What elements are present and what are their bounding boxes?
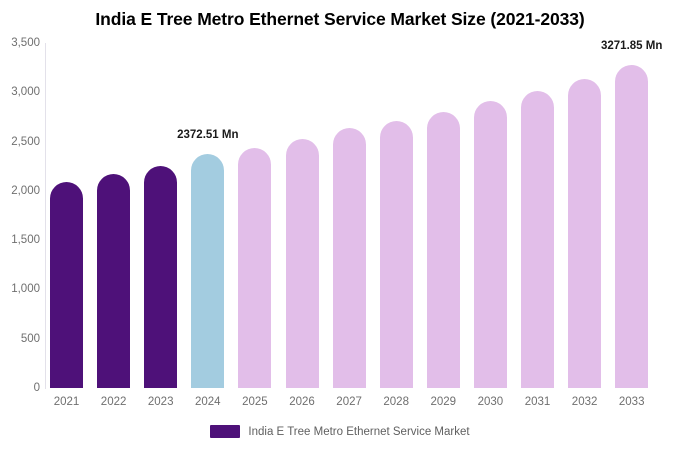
legend-label[interactable]: India E Tree Metro Ethernet Service Mark… (248, 426, 469, 438)
bar-2022[interactable] (97, 174, 130, 388)
bar-2030[interactable] (474, 101, 507, 388)
x-axis-tick-label: 2026 (279, 396, 326, 408)
x-axis-tick-label: 2032 (561, 396, 608, 408)
x-axis-tick-label: 2027 (326, 396, 373, 408)
bars-group (0, 0, 680, 400)
legend-swatch[interactable] (210, 425, 240, 438)
bar-2033[interactable] (615, 65, 648, 388)
bar-2023[interactable] (144, 166, 177, 388)
bar-2021[interactable] (50, 182, 83, 388)
x-axis-tick-label: 2031 (514, 396, 561, 408)
plot-area: 05001,0001,5002,0002,5003,0003,500 2372.… (0, 0, 680, 400)
bar-2029[interactable] (427, 112, 460, 388)
bar-value-label-2033: 3271.85 Mn (582, 40, 680, 52)
bar-2031[interactable] (521, 91, 554, 388)
x-axis-tick-label: 2021 (43, 396, 90, 408)
bar-2028[interactable] (380, 121, 413, 388)
bar-2026[interactable] (286, 139, 319, 388)
bar-2025[interactable] (238, 148, 271, 388)
x-axis-tick-label: 2022 (90, 396, 137, 408)
x-axis-tick-label: 2033 (608, 396, 655, 408)
chart-legend: India E Tree Metro Ethernet Service Mark… (0, 425, 680, 438)
x-axis-tick-label: 2023 (137, 396, 184, 408)
bar-2024[interactable] (191, 154, 224, 388)
x-axis-tick-label: 2029 (420, 396, 467, 408)
bar-2027[interactable] (333, 128, 366, 388)
x-axis-tick-label: 2028 (373, 396, 420, 408)
bar-chart: India E Tree Metro Ethernet Service Mark… (0, 0, 680, 450)
x-axis-tick-label: 2030 (467, 396, 514, 408)
bar-value-label-2024: 2372.51 Mn (158, 129, 258, 141)
bar-2032[interactable] (568, 79, 601, 388)
x-axis-tick-label: 2024 (184, 396, 231, 408)
x-axis-tick-label: 2025 (231, 396, 278, 408)
